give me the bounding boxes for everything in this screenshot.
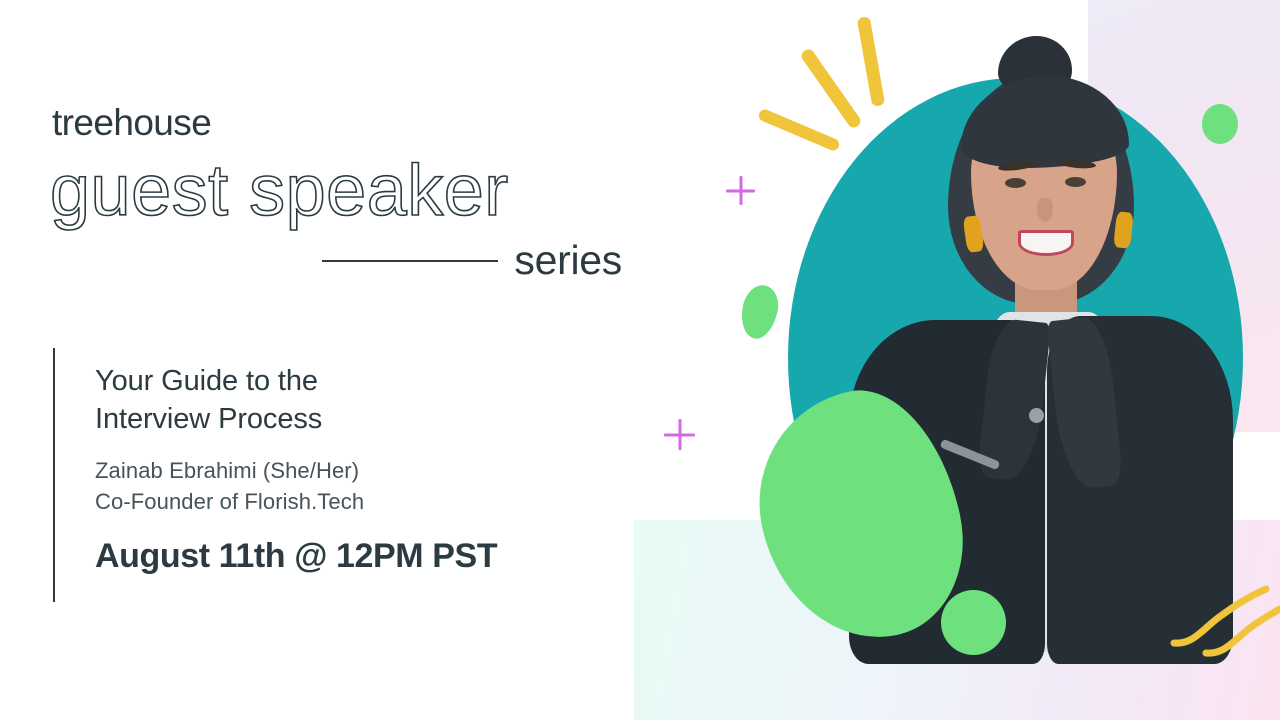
portrait-nose xyxy=(1037,198,1053,222)
green-circle-shape xyxy=(941,590,1006,655)
speaker-name: Zainab Ebrahimi (She/Her) xyxy=(95,455,497,486)
series-row: series xyxy=(50,240,622,281)
portrait-eye-left xyxy=(1005,178,1026,188)
brand-wordmark: treehouse xyxy=(52,104,650,141)
portrait-hair-front xyxy=(961,76,1129,168)
talk-title-line-1: Your Guide to the xyxy=(95,365,318,397)
green-oval-shape xyxy=(737,282,782,342)
portrait-eye-right xyxy=(1065,177,1086,187)
series-label: series xyxy=(514,240,622,281)
talk-title: Your Guide to the Interview Process xyxy=(95,362,497,439)
series-divider-rule xyxy=(322,260,498,262)
portrait-smile xyxy=(1018,230,1074,256)
guest-speaker-outline-title: guest speaker xyxy=(50,155,650,228)
talk-detail-block: Your Guide to the Interview Process Zain… xyxy=(53,348,497,602)
plus-cross-icon-top xyxy=(726,176,755,205)
headline-block: treehouse guest speaker series xyxy=(50,104,650,281)
portrait-jacket-stud xyxy=(1029,408,1044,423)
plus-cross-icon-bottom xyxy=(664,419,695,450)
speaker-role: Co-Founder of Florish.Tech xyxy=(95,486,497,517)
talk-title-line-2: Interview Process xyxy=(95,403,322,435)
wavy-lines-icon xyxy=(1170,575,1280,685)
event-datetime: August 11th @ 12PM PST xyxy=(95,539,497,573)
portrait-earring-right xyxy=(1113,211,1134,249)
promo-slide: treehouse guest speaker series Your Guid… xyxy=(0,0,1280,720)
